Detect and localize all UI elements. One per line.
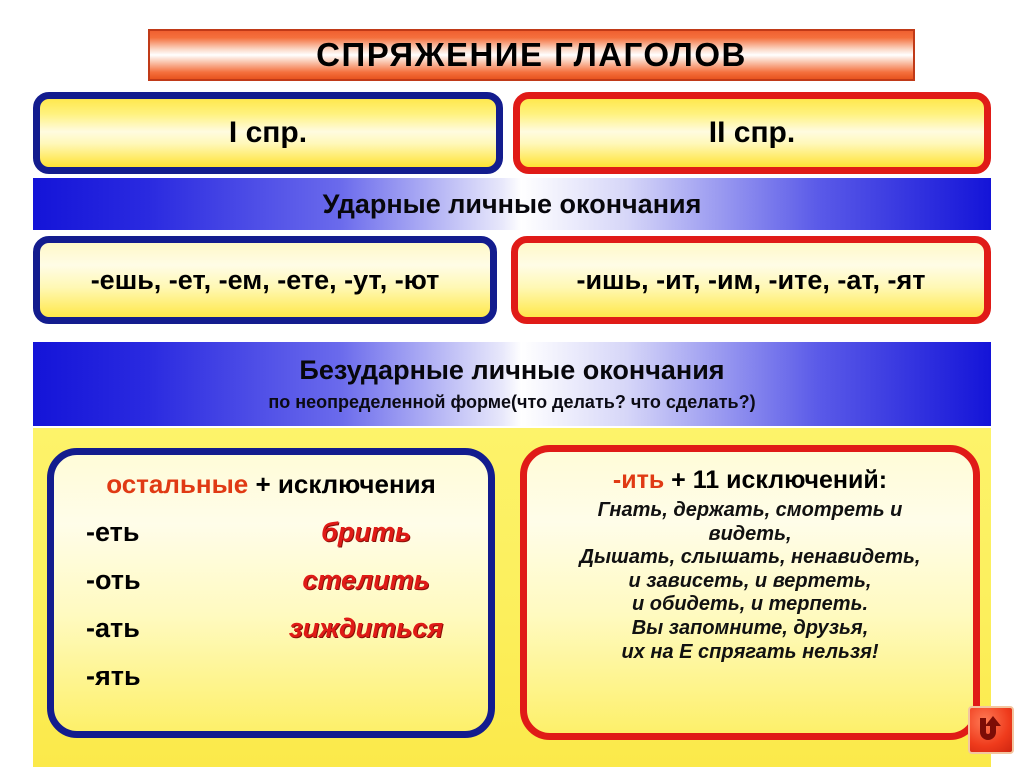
conjugation-poster: СПРЯЖЕНИЕ ГЛАГОЛОВ I спр. II спр. Ударны… — [0, 0, 1024, 767]
first-rule-heading-black: + исключения — [248, 469, 436, 499]
page-title: СПРЯЖЕНИЕ ГЛАГОЛОВ — [316, 36, 747, 74]
second-conjugation-endings-box: -ишь, -ит, -им, -ите, -ат, -ят — [511, 236, 991, 324]
verse-line: их на Е спрягать нельзя! — [539, 641, 961, 665]
verse-line: и обидеть, и терпеть. — [539, 593, 961, 617]
first-conjugation-suffix-list: -еть брить -оть стелить -ать зиждиться -… — [64, 508, 478, 700]
first-rule-heading-red: остальные — [106, 469, 248, 499]
exception-verbs-verse: Гнать, держать, смотреть и видеть, Дышат… — [539, 499, 961, 664]
exception-verb: брить — [254, 517, 478, 548]
first-conjugation-rule-heading: остальные + исключения — [64, 469, 478, 500]
conjugation-headers-row: I спр. II спр. — [33, 92, 991, 174]
second-conjugation-endings: -ишь, -ит, -им, -ите, -ат, -ят — [576, 265, 925, 296]
second-rule-heading-red: -ить — [613, 466, 664, 494]
suffix-label: -ать — [64, 613, 254, 644]
return-arrow-icon — [976, 714, 1006, 746]
verse-line: Дышать, слышать, ненавидеть, — [539, 546, 961, 570]
suffix-label: -еть — [64, 517, 254, 548]
second-conjugation-rule-box: -ить + 11 исключений: Гнать, держать, см… — [520, 445, 980, 740]
verse-line: и зависеть, и вертеть, — [539, 570, 961, 594]
poster-title-banner: СПРЯЖЕНИЕ ГЛАГОЛОВ — [148, 29, 915, 81]
stressed-endings-heading: Ударные личные окончания — [323, 189, 702, 220]
suffix-label: -ять — [64, 661, 254, 692]
verse-line: видеть, — [539, 523, 961, 547]
second-conjugation-label: II спр. — [709, 116, 795, 150]
first-conjugation-label: I спр. — [229, 116, 307, 150]
first-conjugation-endings-box: -ешь, -ет, -ем, -ете, -ут, -ют — [33, 236, 497, 324]
unstressed-endings-heading: Безударные личные окончания — [299, 355, 724, 386]
verse-line: Гнать, держать, смотреть и — [539, 499, 961, 523]
exception-verb: стелить — [254, 565, 478, 596]
first-conjugation-header: I спр. — [33, 92, 503, 174]
second-conjugation-header: II спр. — [513, 92, 991, 174]
exception-verb: зиждиться — [254, 613, 478, 644]
first-conjugation-endings: -ешь, -ет, -ем, -ете, -ут, -ют — [91, 265, 440, 296]
list-item: -ять — [64, 652, 478, 700]
unstressed-endings-subheading: по неопределенной форме(что делать? что … — [268, 392, 755, 413]
list-item: -еть брить — [64, 508, 478, 556]
list-item: -оть стелить — [64, 556, 478, 604]
stressed-endings-banner: Ударные личные окончания — [33, 178, 991, 230]
verse-line: Вы запомните, друзья, — [539, 617, 961, 641]
second-conjugation-rule-heading: -ить + 11 исключений: — [539, 466, 961, 495]
stressed-endings-row: -ешь, -ет, -ем, -ете, -ут, -ют -ишь, -ит… — [33, 236, 991, 324]
return-button[interactable] — [968, 706, 1014, 754]
list-item: -ать зиждиться — [64, 604, 478, 652]
second-rule-heading-black: + 11 исключений: — [664, 466, 887, 494]
suffix-label: -оть — [64, 565, 254, 596]
first-conjugation-rule-box: остальные + исключения -еть брить -оть с… — [47, 448, 495, 738]
unstressed-endings-banner: Безударные личные окончания по неопредел… — [33, 342, 991, 426]
